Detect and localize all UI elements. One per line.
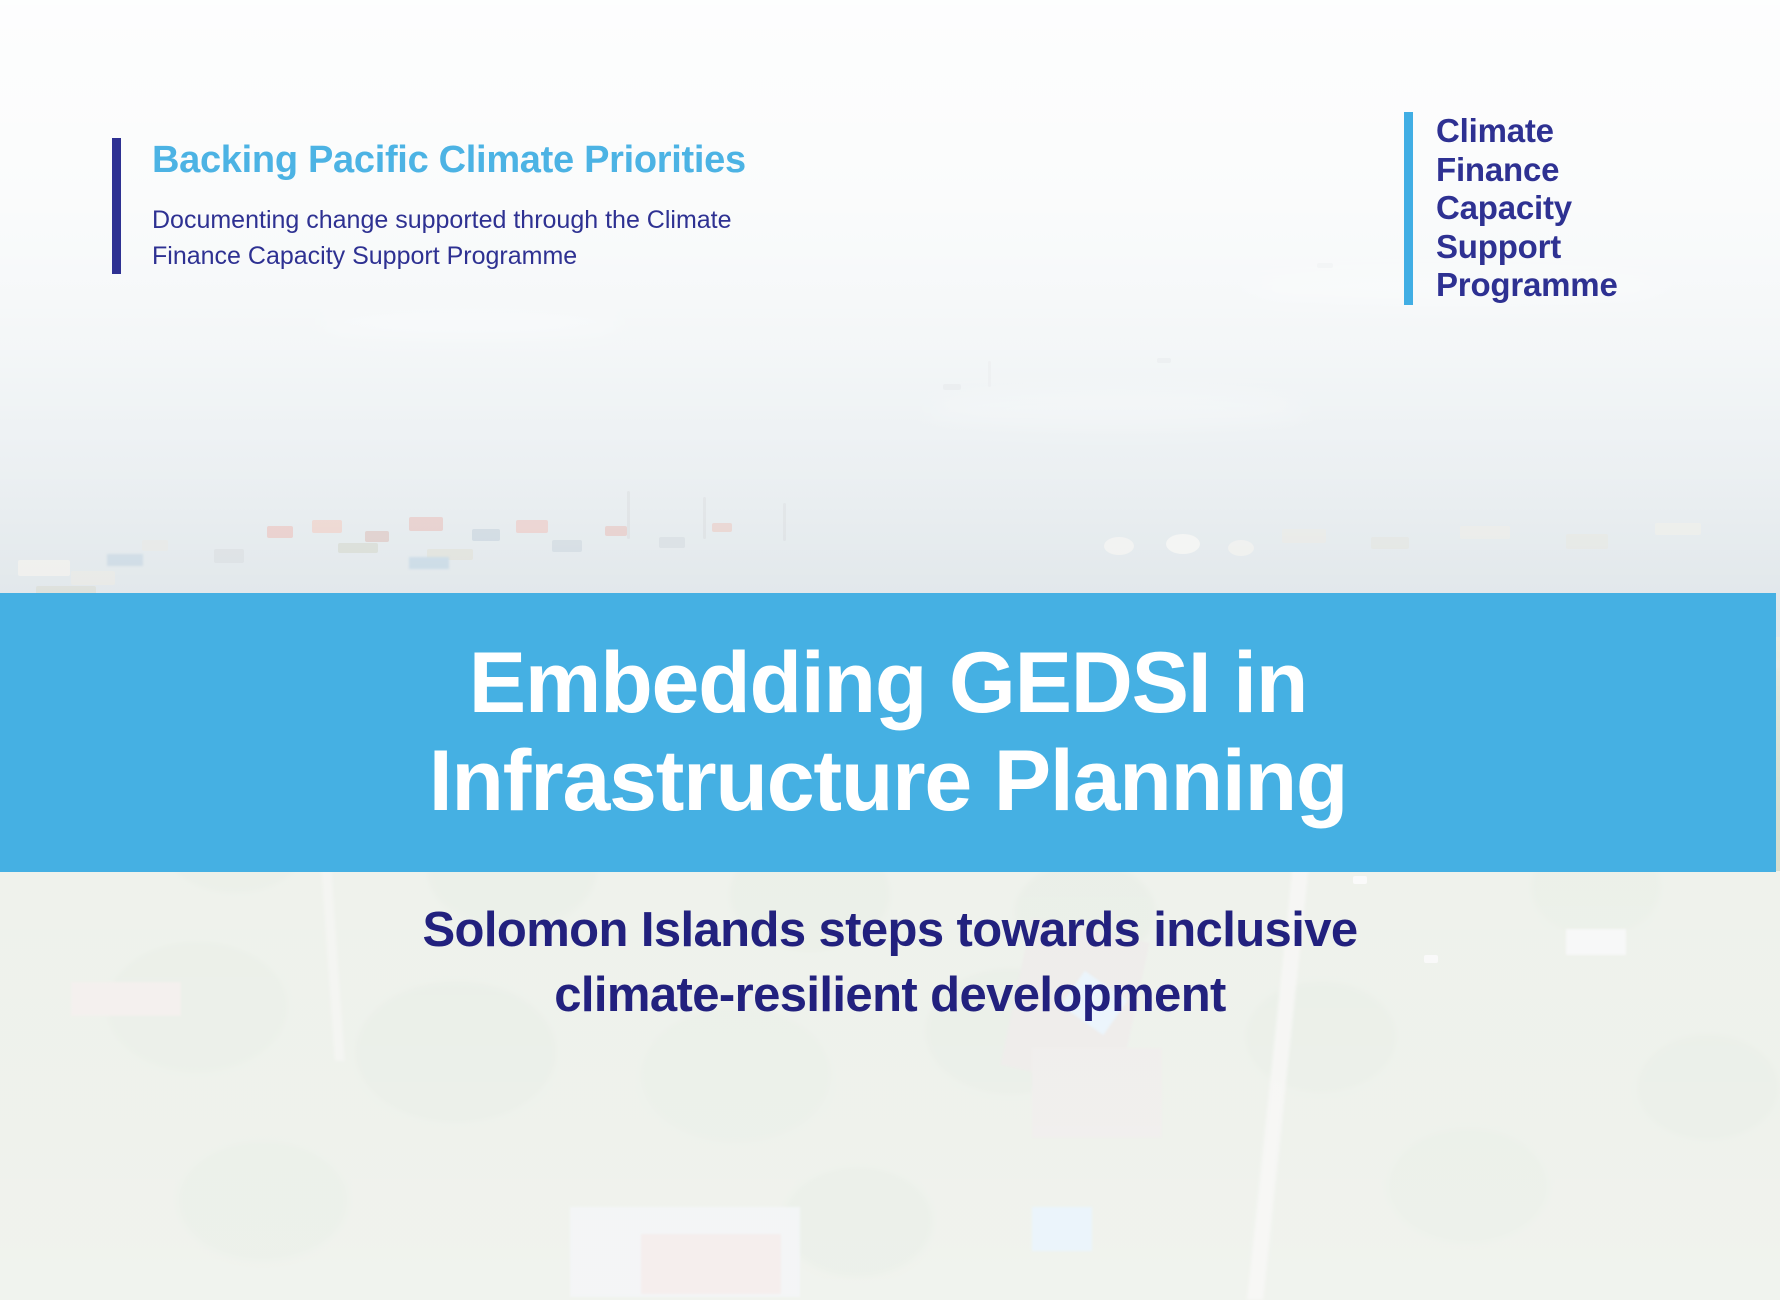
- logo-accent-rule: [1404, 112, 1413, 305]
- main-title-line-1: Embedding GEDSI in: [469, 635, 1307, 732]
- logo-line-support: Support: [1436, 228, 1618, 267]
- series-subtitle-line-2: Finance Capacity Support Programme: [152, 242, 577, 270]
- kicker-text-block: Backing Pacific Climate Priorities Docum…: [152, 138, 746, 274]
- programme-logo: Climate Finance Capacity Support Program…: [1404, 112, 1618, 305]
- series-subtitle-line-1: Documenting change supported through the…: [152, 206, 732, 234]
- kicker-accent-rule: [112, 138, 121, 274]
- deck-subtitle: Solomon Islands steps towards inclusive …: [0, 898, 1780, 1027]
- logo-line-capacity: Capacity: [1436, 189, 1618, 228]
- logo-line-climate: Climate: [1436, 112, 1618, 151]
- logo-line-programme: Programme: [1436, 266, 1618, 305]
- deck-line-1: Solomon Islands steps towards inclusive: [0, 898, 1780, 963]
- cover-page: Backing Pacific Climate Priorities Docum…: [0, 0, 1780, 1300]
- logo-line-finance: Finance: [1436, 151, 1618, 190]
- series-kicker: Backing Pacific Climate Priorities Docum…: [112, 138, 746, 274]
- logo-wordmark: Climate Finance Capacity Support Program…: [1436, 112, 1618, 305]
- deck-line-2: climate-resilient development: [0, 963, 1780, 1028]
- title-band: Embedding GEDSI in Infrastructure Planni…: [0, 593, 1776, 872]
- main-title-line-2: Infrastructure Planning: [429, 733, 1348, 830]
- series-title: Backing Pacific Climate Priorities: [152, 140, 746, 181]
- series-subtitle: Documenting change supported through the…: [152, 203, 746, 274]
